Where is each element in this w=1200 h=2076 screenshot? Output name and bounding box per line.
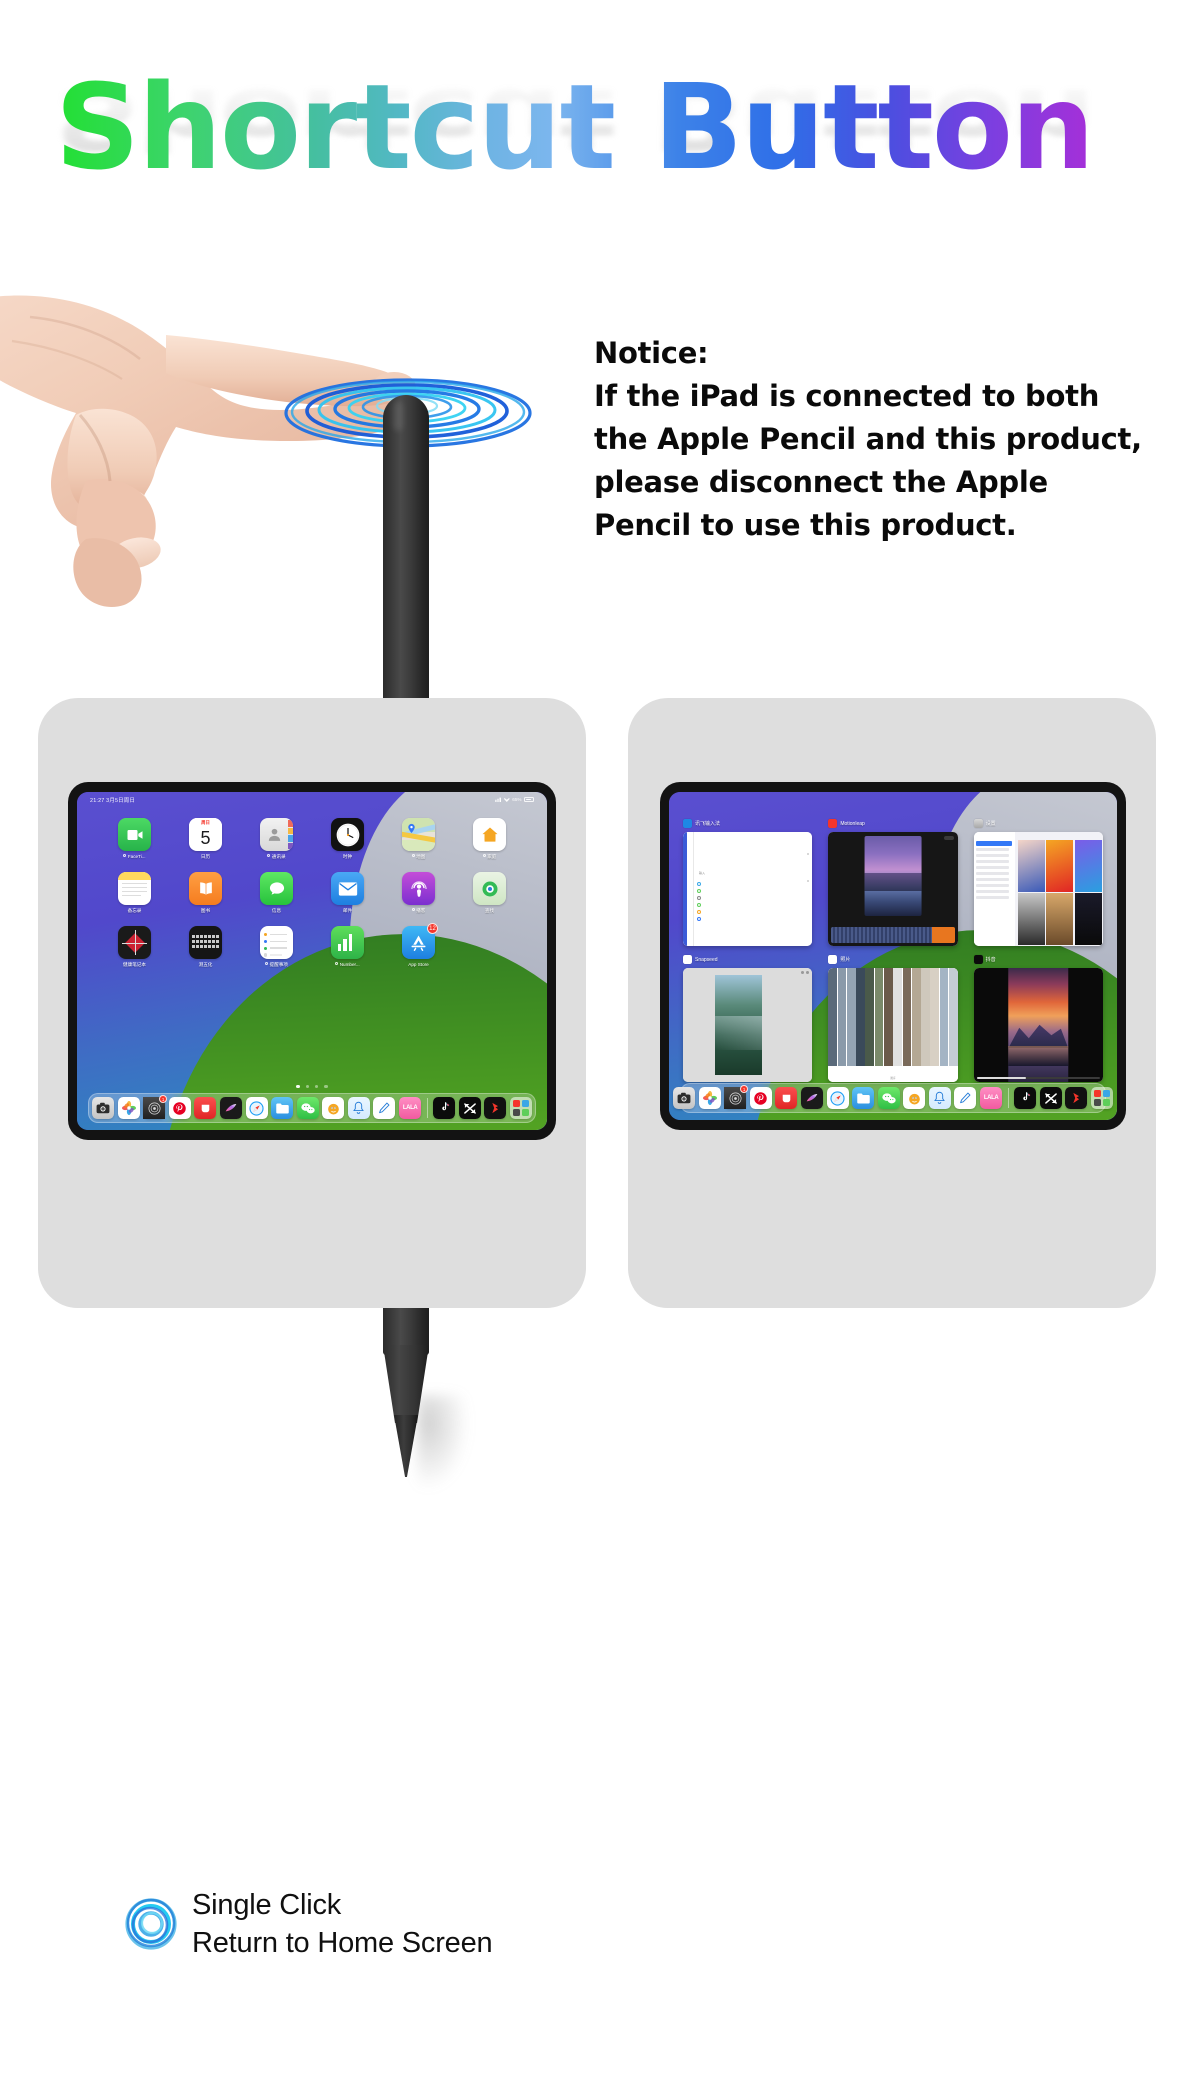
page-title: Shortcut Button [55, 58, 1093, 196]
app-icon-wrap [331, 818, 364, 851]
app-icon-facetime[interactable]: FaceTi... [99, 818, 170, 860]
app-label: 邮件 [343, 908, 352, 914]
task-card-thumbnail[interactable] [974, 832, 1103, 946]
dock-wechat-icon[interactable] [297, 1097, 319, 1119]
task-card-header: 抖音 [974, 954, 1103, 965]
task-card-label: 照片 [840, 956, 850, 963]
app-icon-clock[interactable]: 时钟 [312, 818, 383, 860]
app-icon-wrap [260, 872, 293, 905]
facetime-icon [118, 818, 151, 851]
single-click-caption: Single Click Return to Home Screen [124, 1886, 492, 1962]
snapseed-icon [683, 955, 692, 964]
page-dot[interactable] [315, 1085, 318, 1088]
notice-block: Notice: If the iPad is connected to both… [594, 332, 1194, 547]
icloud-dot-icon [483, 854, 486, 857]
page-dot[interactable] [306, 1085, 309, 1088]
dock-appstore-dark-icon[interactable]: 1 [724, 1087, 746, 1109]
mail-icon [331, 872, 364, 905]
iflytek-icon [683, 819, 692, 828]
ipad-device-home: 21:27 3月5日周日 65% FaceTi... 周日 5日历 通讯录 时钟 [68, 782, 556, 1140]
dock-safari-icon[interactable] [246, 1097, 268, 1119]
dock: 1 LALA [680, 1083, 1106, 1113]
app-label: Number... [335, 962, 359, 967]
notice-line-2: the Apple Pencil and this product, [594, 418, 1194, 461]
app-label: 日历 [201, 854, 210, 860]
dock-yellow-duck-app-icon[interactable] [322, 1097, 344, 1119]
app-label: 图书 [201, 908, 210, 914]
notice-heading: Notice: [594, 332, 1194, 375]
app-icon-maps[interactable]: 地图 [383, 818, 454, 860]
app-icon-wrap [118, 872, 151, 905]
dock-procreate-icon[interactable] [220, 1097, 242, 1119]
icloud-dot-icon [267, 854, 270, 857]
task-card-label: Motionleap [840, 821, 864, 827]
task-card-header: 讯飞输入法 [683, 818, 812, 829]
task-card-thumbnail[interactable] [828, 832, 957, 946]
task-card-snapseed[interactable]: Snapseed [683, 954, 812, 1082]
icloud-dot-icon [412, 854, 415, 857]
app-icon-appstore[interactable]: 12App Store [383, 926, 454, 968]
app-label: 查找 [485, 908, 494, 914]
clock-icon [331, 818, 364, 851]
app-icon-podcasts[interactable]: 播客 [383, 872, 454, 914]
app-label: 播客 [412, 908, 426, 914]
app-icon-findmy[interactable]: 查找 [454, 872, 525, 914]
app-icon-notes[interactable]: 备忘录 [99, 872, 170, 914]
dock-notability-pencil-icon[interactable] [373, 1097, 395, 1119]
status-bar: 21:27 3月5日周日 65% [77, 792, 547, 807]
icloud-dot-icon [335, 962, 338, 965]
dock-safari-icon[interactable] [827, 1087, 849, 1109]
app-icon-numbers[interactable]: Number... [312, 926, 383, 968]
double-click-card: 讯飞输入法 输入 Motionleap 设置 [628, 698, 1156, 1308]
icloud-dot-icon [265, 962, 268, 965]
task-card-settings[interactable]: 设置 [974, 818, 1103, 946]
app-icon-wrap [402, 818, 435, 851]
messages-icon [260, 872, 293, 905]
app-label: 地图 [412, 854, 426, 860]
app-slot-empty [454, 926, 525, 968]
dock-red-app-icon[interactable] [194, 1097, 216, 1119]
books-icon [189, 872, 222, 905]
title-area: Shortcut Button Shortcut Button [0, 58, 1200, 288]
dock-grid-folder-icon[interactable] [1091, 1087, 1113, 1109]
app-icon-wrap [260, 818, 293, 851]
dock-pinterest-icon[interactable] [750, 1087, 772, 1109]
notification-badge: 1 [159, 1095, 167, 1103]
dark-red-app-icon [118, 926, 151, 959]
app-icon-contacts[interactable]: 通讯录 [241, 818, 312, 860]
task-card-label: 设置 [986, 820, 996, 827]
dock-appstore-dark-icon[interactable]: 1 [143, 1097, 165, 1119]
dock-tiktok-icon[interactable] [433, 1097, 455, 1119]
app-icon-reminders[interactable]: 提醒事项 [241, 926, 312, 968]
dock-red-bird-icon[interactable] [1065, 1087, 1087, 1109]
dock-bell-app-icon[interactable] [929, 1087, 951, 1109]
home-icon [473, 818, 506, 851]
task-card-header: Motionleap [828, 818, 957, 829]
notice-line-3: please disconnect the Apple [594, 461, 1194, 504]
app-label: 健康笔记本 [123, 962, 146, 968]
app-icon-wrap [473, 872, 506, 905]
page-dots[interactable] [77, 1085, 547, 1088]
app-icon-wrap [189, 872, 222, 905]
dock-tiktok-icon[interactable] [1014, 1087, 1036, 1109]
dock-red-bird-icon[interactable] [484, 1097, 506, 1119]
calendar-icon: 周日 5 [189, 818, 222, 851]
dock-pinterest-icon[interactable] [169, 1097, 191, 1119]
dock-red-app-icon[interactable] [775, 1087, 797, 1109]
app-label: 通讯录 [267, 854, 285, 860]
app-label: 测五化 [199, 962, 213, 968]
task-card-thumbnail[interactable] [683, 968, 812, 1082]
app-icon-calendar[interactable]: 周日 5日历 [170, 818, 241, 860]
reminders-icon [260, 926, 293, 959]
dock-camera-icon[interactable] [92, 1097, 114, 1119]
app-icon-wrap [189, 926, 222, 959]
notes-icon [118, 872, 151, 905]
task-manager-grid: 讯飞输入法 输入 Motionleap 设置 [669, 812, 1117, 1082]
dock-capcut-icon[interactable] [1040, 1087, 1062, 1109]
dock-camera-icon[interactable] [673, 1087, 695, 1109]
app-label: 信息 [272, 908, 281, 914]
dock-wechat-icon[interactable] [878, 1087, 900, 1109]
podcasts-icon [402, 872, 435, 905]
battery-icon [524, 797, 534, 802]
task-card-label: 抖音 [986, 956, 996, 963]
app-icon-wrap [331, 926, 364, 959]
dock-notability-pencil-icon[interactable] [954, 1087, 976, 1109]
task-card-header: 照片 [828, 954, 957, 965]
dock-files-icon[interactable] [271, 1097, 293, 1119]
dock-grid-folder-icon[interactable] [510, 1097, 532, 1119]
dock-separator [1008, 1088, 1009, 1108]
notification-badge: 1 [740, 1085, 748, 1093]
icloud-dot-icon [123, 854, 126, 857]
app-label: 家庭 [483, 854, 497, 860]
task-card-photos[interactable]: 照片 图库 [828, 954, 957, 1082]
task-card-iflytek[interactable]: 讯飞输入法 输入 [683, 818, 812, 946]
task-card-thumbnail[interactable]: 输入 [683, 832, 812, 946]
app-label: 时钟 [343, 854, 352, 860]
dock-separator [427, 1098, 428, 1118]
dock-photos-icon[interactable] [699, 1087, 721, 1109]
dock-bell-app-icon[interactable] [348, 1097, 370, 1119]
app-icon-mail[interactable]: 邮件 [312, 872, 383, 914]
task-card-label: Snapseed [695, 957, 718, 963]
app-icon-wrap [331, 872, 364, 905]
task-card-thumbnail[interactable] [974, 968, 1103, 1082]
page-dot[interactable] [296, 1085, 299, 1088]
douyin-icon [974, 955, 983, 964]
notification-badge: 12 [427, 923, 438, 934]
app-icon-home[interactable]: 家庭 [454, 818, 525, 860]
app-label: 提醒事项 [265, 962, 288, 968]
photos-icon [828, 955, 837, 964]
app-icon-wrap [260, 926, 293, 959]
app-icon-wrap [118, 926, 151, 959]
app-label: App Store [408, 962, 428, 967]
app-icon-grid: FaceTi... 周日 5日历 通讯录 时钟 地图 家庭 备忘录 图书 信息 … [77, 818, 547, 968]
signal-icon [495, 797, 501, 802]
app-icon-messages[interactable]: 信息 [241, 872, 312, 914]
dock-pink-app-icon[interactable]: LALA [980, 1087, 1002, 1109]
app-icon-dark-red-app[interactable]: 健康笔记本 [99, 926, 170, 968]
notice-line-4: Pencil to use this product. [594, 504, 1194, 547]
task-card-thumbnail[interactable]: 图库 [828, 968, 957, 1082]
status-time-date: 21:27 3月5日周日 [90, 796, 135, 804]
dark-keyboard-app-icon [189, 926, 222, 959]
app-icon-books[interactable]: 图书 [170, 872, 241, 914]
page-dot[interactable] [324, 1085, 327, 1088]
ipad-device-tasks: 讯飞输入法 输入 Motionleap 设置 [660, 782, 1126, 1130]
task-card-motionleap[interactable]: Motionleap [828, 818, 957, 946]
ipad-screen-tasks: 讯飞输入法 输入 Motionleap 设置 [669, 792, 1117, 1120]
battery-percent: 65% [512, 797, 521, 802]
task-card-label: 讯飞输入法 [695, 820, 720, 827]
contacts-icon [260, 818, 293, 851]
app-label: 备忘录 [128, 908, 142, 914]
dock-files-icon[interactable] [852, 1087, 874, 1109]
status-indicators: 65% [495, 797, 534, 802]
stylus-shadow [417, 1395, 469, 1490]
findmy-icon [473, 872, 506, 905]
app-icon-wrap [473, 818, 506, 851]
settings-icon [974, 819, 983, 828]
dock-yellow-duck-app-icon[interactable] [903, 1087, 925, 1109]
task-card-header: 设置 [974, 818, 1103, 829]
task-card-header: Snapseed [683, 954, 812, 965]
single-click-card: 21:27 3月5日周日 65% FaceTi... 周日 5日历 通讯录 时钟 [38, 698, 586, 1308]
pen-nib-icon [394, 1415, 418, 1477]
maps-icon [402, 818, 435, 851]
dock-procreate-icon[interactable] [801, 1087, 823, 1109]
app-icon-dark-keyboard-app[interactable]: 测五化 [170, 926, 241, 968]
caption-line-1: Single Click [192, 1886, 492, 1924]
notice-line-1: If the iPad is connected to both [594, 375, 1194, 418]
tap-ripple-icon [124, 1897, 178, 1951]
caption-line-2: Return to Home Screen [192, 1924, 492, 1962]
stylus-highlight [393, 401, 403, 431]
ipad-screen-home: 21:27 3月5日周日 65% FaceTi... 周日 5日历 通讯录 时钟 [77, 792, 547, 1130]
task-card-douyin[interactable]: 抖音 [974, 954, 1103, 1082]
numbers-icon [331, 926, 364, 959]
icloud-dot-icon [412, 908, 415, 911]
wifi-icon [504, 797, 510, 802]
motionleap-icon [828, 819, 837, 828]
dock-photos-icon[interactable] [118, 1097, 140, 1119]
app-icon-wrap [402, 872, 435, 905]
app-icon-wrap: 周日 5 [189, 818, 222, 851]
dock-pink-app-icon[interactable]: LALA [399, 1097, 421, 1119]
app-icon-wrap: 12 [402, 926, 435, 959]
app-icon-wrap [118, 818, 151, 851]
dock-capcut-icon[interactable] [459, 1097, 481, 1119]
dock: 1 LALA [88, 1093, 536, 1123]
app-label: FaceTi... [123, 854, 145, 859]
